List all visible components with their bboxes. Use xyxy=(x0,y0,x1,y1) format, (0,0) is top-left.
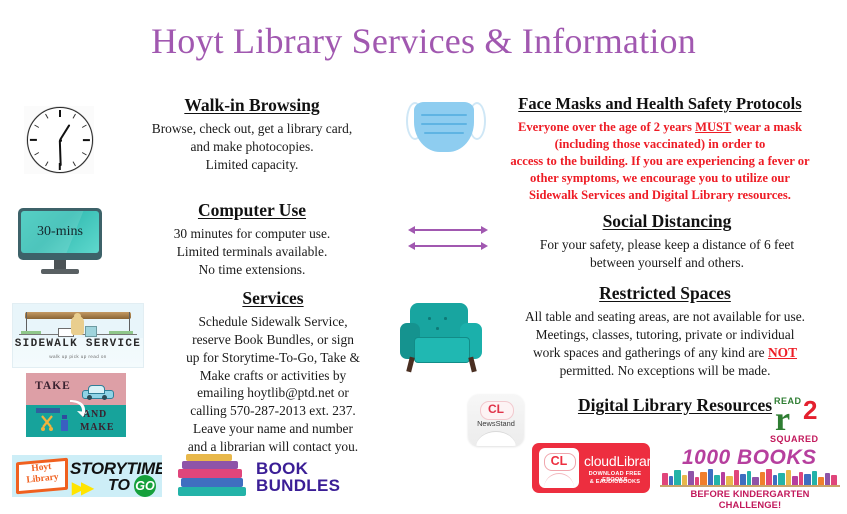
social-distancing-body: For your safety, please keep a distance … xyxy=(512,236,822,272)
double-arrow-icon xyxy=(404,222,494,258)
thousand-books-title: 1000 BOOKS xyxy=(682,446,817,470)
cloudlibrary-logo[interactable]: CL cloudLibrary DOWNLOAD FREE EBOOKS & E… xyxy=(532,443,650,493)
newsstand-label: NewsStand xyxy=(468,419,524,428)
restricted-spaces-body: All table and seating areas, are not ava… xyxy=(500,308,830,379)
face-masks-line-1-pre: Everyone over the age of 2 years xyxy=(518,120,695,134)
face-masks-line-5: Sidewalk Services and Digital Library re… xyxy=(490,187,830,204)
services-line-6: calling 570-287-2013 ext. 237. xyxy=(150,402,396,420)
restricted-spaces-line-3-pre: work spaces and gatherings of any kind a… xyxy=(533,345,768,360)
services-line-2: reserve Book Bundles, or sign xyxy=(150,331,396,349)
walk-in-line-2: and make photocopies. xyxy=(108,138,396,156)
walk-in-body: Browse, check out, get a library card, a… xyxy=(108,120,396,173)
social-distancing-line-2: between yourself and others. xyxy=(512,254,822,272)
cloudlibrary-name: cloudLibrary xyxy=(584,453,658,469)
computer-use-line-1: 30 minutes for computer use. xyxy=(108,225,396,243)
book-row-icon xyxy=(660,468,840,486)
restricted-spaces-heading: Restricted Spaces xyxy=(500,283,830,303)
computer-use-body: 30 minutes for computer use. Limited ter… xyxy=(108,225,396,278)
clock-icon xyxy=(24,106,94,174)
restricted-spaces-line-2: Meetings, classes, tutoring, private or … xyxy=(500,326,830,344)
face-masks-line-2: (including those vaccinated) in order to xyxy=(490,136,830,153)
computer-monitor-icon: 30-mins xyxy=(18,208,102,278)
storytime-to-go-logo: Hoyt Library STORYTIME ▶▶ TO GO xyxy=(12,455,162,497)
sidewalk-logo-subtitle: walk up pick up read on xyxy=(13,354,143,359)
chevron-right-icon: ▶▶ xyxy=(72,478,91,497)
read-squared-exponent: 2 xyxy=(803,397,817,423)
section-restricted-spaces: Restricted Spaces All table and seating … xyxy=(500,283,830,379)
section-social-distancing: Social Distancing For your safety, pleas… xyxy=(512,211,822,272)
take-label: TAKE xyxy=(35,380,71,392)
services-line-5: emailing hoytlib@ptd.net or xyxy=(150,384,396,402)
services-line-1: Schedule Sidewalk Service, xyxy=(150,313,396,331)
monitor-label: 30-mins xyxy=(37,224,83,240)
scissors-icon xyxy=(40,415,54,431)
thousand-books-logo[interactable]: 1000 BOOKS xyxy=(660,444,840,500)
read-squared-r: r xyxy=(775,403,790,437)
services-line-7: Leave your name and number xyxy=(150,420,396,438)
computer-use-line-3: No time extensions. xyxy=(108,261,396,279)
and-label: AND xyxy=(83,409,107,420)
restricted-spaces-line-4: permitted. No exceptions will be made. xyxy=(500,362,830,380)
face-mask-icon xyxy=(404,98,484,160)
book-bundles-line-2: BUNDLES xyxy=(256,476,340,496)
face-masks-body: Everyone over the age of 2 years MUST we… xyxy=(490,119,830,204)
thousand-books-subtitle: BEFORE KINDERGARTEN CHALLENGE! xyxy=(660,488,840,510)
badge-line-2: Library xyxy=(26,472,59,485)
car-icon xyxy=(82,385,112,398)
cl-newsstand-logo[interactable]: CL NewsStand xyxy=(468,394,524,446)
take-and-make-logo: TAKE AND MAKE xyxy=(26,373,126,437)
book-bundles-logo: BOOK BUNDLES xyxy=(178,452,338,500)
hoyt-library-badge: Hoyt Library xyxy=(20,461,64,487)
services-line-3: up for Storytime-To-Go, Take & xyxy=(150,349,396,367)
go-badge: GO xyxy=(134,475,156,497)
social-distancing-line-1: For your safety, please keep a distance … xyxy=(512,236,822,254)
section-face-masks: Face Masks and Health Safety Protocols E… xyxy=(490,95,830,204)
walk-in-line-1: Browse, check out, get a library card, xyxy=(108,120,396,138)
to-word: TO xyxy=(108,477,130,495)
face-masks-line-1: Everyone over the age of 2 years MUST we… xyxy=(490,119,830,136)
face-masks-line-1-post: wear a mask xyxy=(731,120,802,134)
poster-root: Hoyt Library Services & Information Walk… xyxy=(0,0,847,514)
services-body: Schedule Sidewalk Service, reserve Book … xyxy=(150,313,396,456)
services-heading: Services xyxy=(150,288,396,308)
face-masks-heading: Face Masks and Health Safety Protocols xyxy=(490,95,830,114)
face-masks-line-3: access to the building. If you are exper… xyxy=(490,153,830,170)
face-masks-line-4: other symptoms, we encourage you to util… xyxy=(490,170,830,187)
sidewalk-logo-title: SIDEWALK SERVICE xyxy=(13,338,143,350)
walk-in-line-3: Limited capacity. xyxy=(108,156,396,174)
must-emphasis: MUST xyxy=(695,120,731,134)
cloudlibrary-mark: CL xyxy=(539,454,579,468)
cloudlibrary-sub-2: & EAUDIOBOOKS xyxy=(584,479,646,485)
armchair-icon xyxy=(400,303,492,375)
computer-use-line-2: Limited terminals available. xyxy=(108,243,396,261)
page-title: Hoyt Library Services & Information xyxy=(0,20,847,62)
restricted-spaces-line-1: All table and seating areas, are not ava… xyxy=(500,308,830,326)
services-line-4: Make crafts or activities by xyxy=(150,367,396,385)
read-squared-logo[interactable]: READ r 2 SQUARED xyxy=(766,396,838,448)
not-emphasis: NOT xyxy=(768,345,797,360)
sidewalk-service-logo: SIDEWALK SERVICE walk up pick up read on xyxy=(12,303,144,368)
restricted-spaces-line-3: work spaces and gatherings of any kind a… xyxy=(500,344,830,362)
section-services: Services Schedule Sidewalk Service, rese… xyxy=(150,288,396,456)
section-walk-in-browsing: Walk-in Browsing Browse, check out, get … xyxy=(108,95,396,174)
newsstand-mark: CL xyxy=(468,402,524,416)
walk-in-heading: Walk-in Browsing xyxy=(108,95,396,115)
section-computer-use: Computer Use 30 minutes for computer use… xyxy=(108,200,396,279)
social-distancing-heading: Social Distancing xyxy=(512,211,822,231)
book-stack-icon xyxy=(178,454,250,498)
read-squared-squared: SQUARED xyxy=(770,434,819,444)
computer-use-heading: Computer Use xyxy=(108,200,396,220)
glue-icon xyxy=(59,415,70,431)
make-label: MAKE xyxy=(80,422,114,433)
